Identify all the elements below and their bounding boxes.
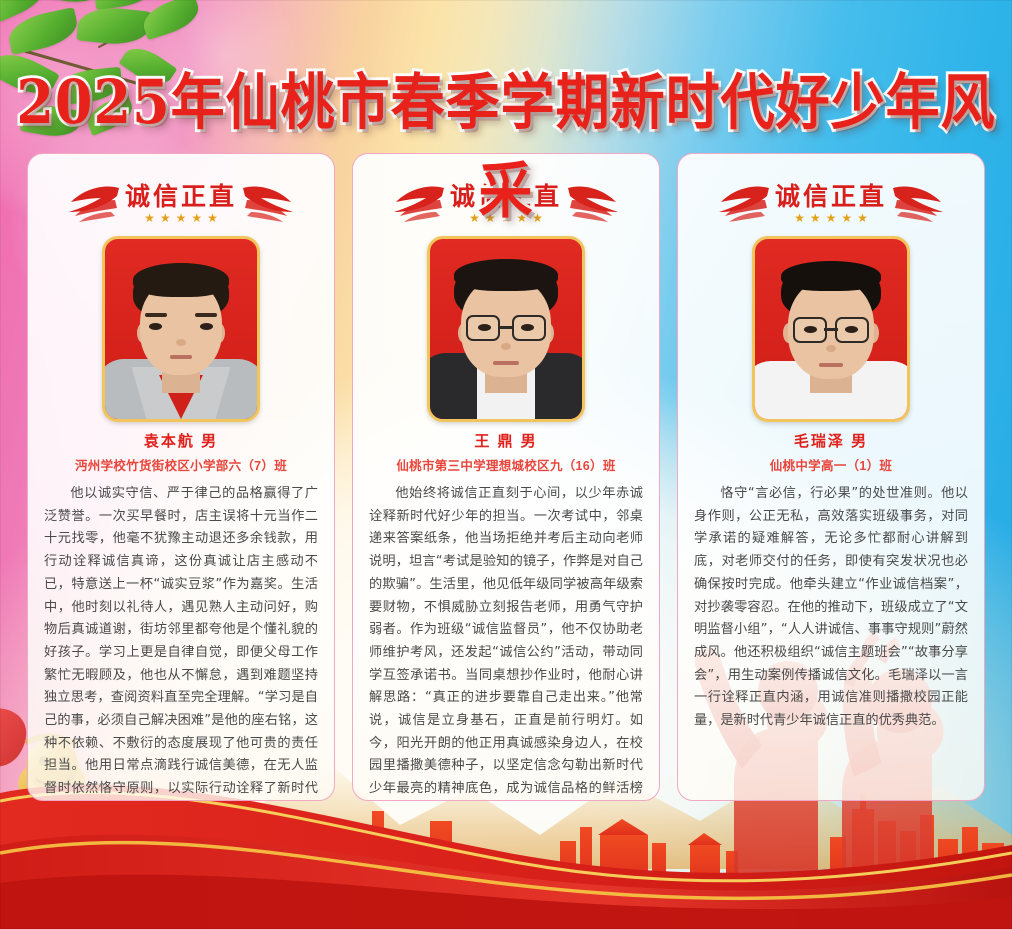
poster-border xyxy=(0,0,1012,929)
poster-canvas: 诚信正直 ★ ★ ★ ★ ★ xyxy=(0,0,1012,929)
